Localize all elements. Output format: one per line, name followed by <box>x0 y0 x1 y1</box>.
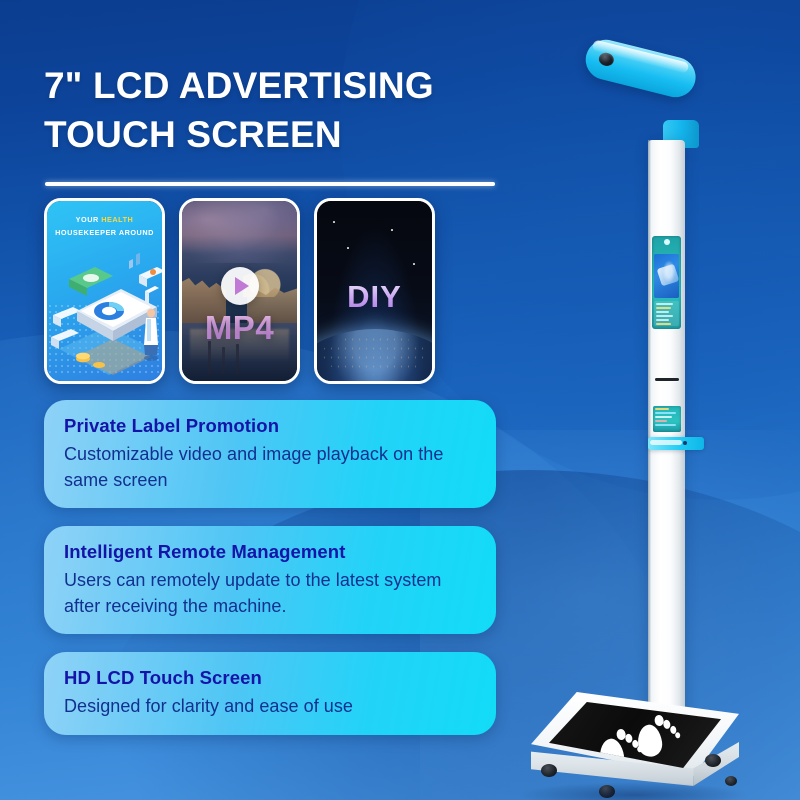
sensor-arm <box>581 35 699 101</box>
thumbnail-mp4-video[interactable]: MP4 <box>179 198 300 384</box>
printer-slot <box>655 378 679 381</box>
thumbnail-health-dashboard[interactable]: YOUR HEALTH HOUSEKEEPER AROUND <box>44 198 165 384</box>
lower-info-panel[interactable] <box>653 406 681 432</box>
feature-body: Customizable video and image playback on… <box>64 442 476 493</box>
feature-card-remote-management[interactable]: Intelligent Remote Management Users can … <box>44 526 496 634</box>
panel-line <box>655 408 669 410</box>
mp4-label: MP4 <box>182 309 297 347</box>
accent-band-dot <box>683 441 687 445</box>
thumbnail-diy-custom[interactable]: DIY <box>314 198 435 384</box>
feature-card-private-label[interactable]: Private Label Promotion Customizable vid… <box>44 400 496 508</box>
lcd-row <box>656 319 669 321</box>
footprint-toe <box>675 732 681 739</box>
health-thumb-title-prefix: YOUR <box>76 215 102 224</box>
lcd-row <box>656 307 671 309</box>
health-thumb-title: YOUR HEALTH HOUSEKEEPER AROUND <box>53 214 156 240</box>
headline-line-2: TOUCH SCREEN <box>44 111 514 160</box>
product-image-kiosk <box>505 40 800 800</box>
feature-title: Intelligent Remote Management <box>64 540 476 564</box>
lcd-illustration <box>654 254 679 298</box>
health-thumb-title-highlight: HEALTH <box>101 215 133 224</box>
footprint-sole <box>635 723 664 758</box>
lcd-logo-mark <box>664 239 670 245</box>
platform-foot <box>541 764 557 777</box>
feature-card-list: Private Label Promotion Customizable vid… <box>44 400 496 735</box>
panel-line <box>655 420 667 422</box>
city-lights <box>321 335 428 375</box>
venice-mooring-pole <box>222 347 225 375</box>
lcd-row <box>656 303 673 305</box>
feature-title: Private Label Promotion <box>64 414 476 438</box>
star-icon <box>413 263 415 265</box>
platform-foot <box>705 754 721 767</box>
lcd-row <box>656 311 669 313</box>
title-divider <box>45 182 495 186</box>
health-dashboard-illustration <box>47 253 165 384</box>
feature-card-hd-touch-screen[interactable]: HD LCD Touch Screen Designed for clarity… <box>44 652 496 735</box>
product-poster: 7" LCD ADVERTISING TOUCH SCREEN YOUR HEA… <box>0 0 800 800</box>
panel-line <box>655 424 676 426</box>
panel-line <box>655 412 676 414</box>
upper-lcd-display[interactable] <box>652 236 681 329</box>
lcd-row <box>656 323 671 325</box>
panel-line <box>655 416 672 418</box>
diy-label: DIY <box>317 279 432 315</box>
feature-body: Users can remotely update to the latest … <box>64 568 476 619</box>
headline-line-1: 7" LCD ADVERTISING <box>44 62 514 111</box>
venice-mooring-pole <box>236 344 239 375</box>
lcd-text-rows <box>654 301 679 326</box>
feature-title: HD LCD Touch Screen <box>64 666 476 690</box>
lcd-logo-icon <box>652 239 681 246</box>
platform-foot <box>725 776 737 786</box>
play-triangle <box>235 277 249 295</box>
media-thumbnail-row: YOUR HEALTH HOUSEKEEPER AROUND <box>44 198 436 388</box>
footprint-right-icon <box>630 711 678 761</box>
star-icon <box>347 247 349 249</box>
accent-band <box>648 437 704 450</box>
lcd-row <box>656 315 673 317</box>
star-icon <box>391 229 393 231</box>
health-thumb-subtitle: HOUSEKEEPER AROUND <box>53 227 156 240</box>
star-icon <box>333 221 335 223</box>
play-icon[interactable] <box>221 267 259 305</box>
accent-band-inner <box>650 440 682 445</box>
page-title: 7" LCD ADVERTISING TOUCH SCREEN <box>44 62 514 160</box>
feature-body: Designed for clarity and ease of use <box>64 694 476 720</box>
